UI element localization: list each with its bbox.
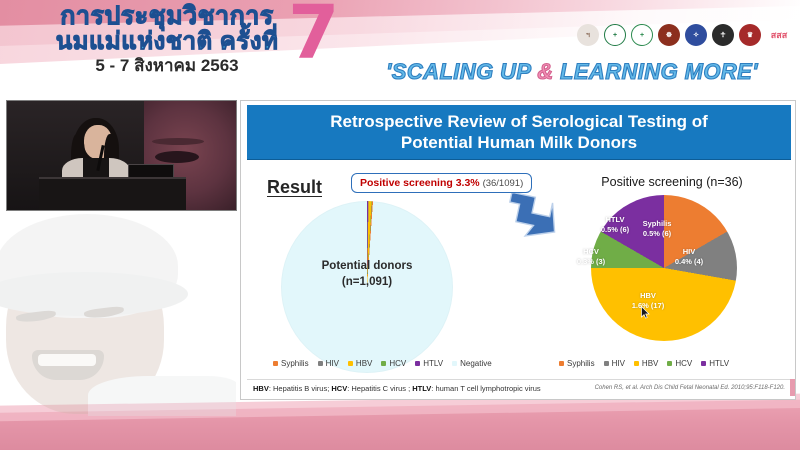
legend-label-htlv: HTLV	[423, 359, 443, 368]
positive-screening-callout: Positive screening 3.3% (36/1091)	[351, 173, 532, 193]
legend2-item-hcv: HCV	[667, 359, 692, 368]
legend-swatch-hcv-icon	[381, 361, 386, 366]
slice-label-htlv-value: 0.5% (6)	[593, 225, 637, 235]
legend-item-hiv: HIV	[318, 359, 339, 368]
slice-label-syphilis: Syphilis 0.5% (6)	[629, 219, 685, 239]
legend2-item-htlv: HTLV	[701, 359, 729, 368]
legend-label-syphilis: Syphilis	[281, 359, 309, 368]
legend-item-negative: Negative	[452, 359, 492, 368]
slice-label-syphilis-value: 0.5% (6)	[629, 229, 685, 239]
slice-label-hbv-name: HBV	[625, 291, 671, 301]
legend-item-syphilis: Syphilis	[273, 359, 309, 368]
logo-health-green-2-icon: +	[631, 24, 653, 46]
fn-hcv-val: : Hepatitis C virus ;	[347, 384, 412, 393]
fn-htlv-val: : human T cell lymphotropic virus	[431, 384, 540, 393]
legend2-item-hiv: HIV	[604, 359, 625, 368]
slice-label-htlv-name: HTLV	[593, 215, 637, 225]
conference-title-line2: นมแม่แห่งชาติ ครั้งที่	[22, 30, 312, 54]
footnote-pink-accent	[790, 379, 795, 396]
logo-university-maroon-icon: ☸	[658, 24, 680, 46]
potential-donors-title: Potential donors	[287, 259, 447, 275]
legend-swatch-negative-icon	[452, 361, 457, 366]
legend2-item-hbv: HBV	[634, 359, 658, 368]
logo-sss-icon: สสส	[766, 24, 792, 46]
legend-label-hiv: HIV	[326, 359, 339, 368]
logo-royal-blue-icon: ✧	[685, 24, 707, 46]
conference-title-line1: การประชุมวิชาการ	[22, 4, 312, 30]
slice-label-htlv: HTLV 0.5% (6)	[593, 215, 637, 235]
legend2-item-syphilis: Syphilis	[559, 359, 595, 368]
legend2-label-hbv: HBV	[642, 359, 658, 368]
logo-ministry-black-icon: ☥	[712, 24, 734, 46]
tagline-ampersand: &	[537, 59, 553, 84]
callout-sub-text: (36/1091)	[483, 178, 524, 189]
logo-foundation-icon: ฯ	[577, 24, 599, 46]
slice-label-hcv-name: HCV	[571, 247, 611, 257]
slide-title-line1: Retrospective Review of Serological Test…	[330, 111, 708, 132]
mouse-cursor-icon	[641, 306, 650, 319]
slice-label-syphilis-name: Syphilis	[629, 219, 685, 229]
legend2-swatch-hiv-icon	[604, 361, 609, 366]
legend2-swatch-htlv-icon	[701, 361, 706, 366]
potential-donors-subtitle: (n=1,091)	[287, 275, 447, 291]
tagline-part1: 'SCALING UP	[386, 59, 537, 84]
legend-swatch-htlv-icon	[415, 361, 420, 366]
result-heading: Result	[267, 177, 322, 198]
legend-label-hcv: HCV	[389, 359, 406, 368]
conference-edition-number: 7	[288, 0, 340, 70]
blue-arrow-icon	[505, 193, 559, 243]
sponsor-logo-strip: ฯ + + ☸ ✧ ☥ ♛ สสส	[577, 24, 792, 46]
slice-label-hcv: HCV 0.3% (3)	[571, 247, 611, 267]
legend-swatch-hbv-icon	[348, 361, 353, 366]
citation-text: Cohen RS, et al. Arch Dis Child Fetal Ne…	[595, 385, 785, 391]
conference-title-thai: การประชุมวิชาการ นมแม่แห่งชาติ ครั้งที่ …	[22, 4, 312, 74]
potential-donors-pie-label: Potential donors (n=1,091)	[287, 259, 447, 290]
child-watermark-image	[0, 208, 236, 416]
conference-tagline: 'SCALING UP & LEARNING MORE'	[352, 59, 792, 85]
abbreviation-key: HBV: Hepatitis B virus; HCV: Hepatitis C…	[253, 384, 541, 393]
speaker-video-inset[interactable]	[6, 100, 237, 211]
legend-label-negative: Negative	[460, 359, 492, 368]
legend2-label-hiv: HIV	[612, 359, 625, 368]
slide-title-line2: Potential Human Milk Donors	[401, 132, 637, 153]
logo-health-green-1-icon: +	[604, 24, 626, 46]
legend2-swatch-hcv-icon	[667, 361, 672, 366]
slice-label-hiv-name: HIV	[665, 247, 713, 257]
legend-label-hbv: HBV	[356, 359, 372, 368]
slide-panel: Retrospective Review of Serological Test…	[240, 100, 796, 400]
legend-swatch-hiv-icon	[318, 361, 323, 366]
slice-label-hcv-value: 0.3% (3)	[571, 257, 611, 267]
tagline-part2: LEARNING MORE'	[553, 59, 757, 84]
fn-hcv-key: HCV	[331, 384, 347, 393]
slide-footnote: HBV: Hepatitis B virus; HCV: Hepatitis C…	[247, 379, 791, 396]
fn-htlv-key: HTLV	[412, 384, 431, 393]
slice-label-hiv-value: 0.4% (4)	[665, 257, 713, 267]
slide-title: Retrospective Review of Serological Test…	[247, 105, 791, 159]
legend-potential-donors: Syphilis HIV HBV HCV HTLV Negative	[273, 359, 492, 368]
logo-crest-red-icon: ♛	[739, 24, 761, 46]
fn-hbv-key: HBV	[253, 384, 269, 393]
positive-screening-chart-title: Positive screening (n=36)	[557, 175, 787, 189]
legend-item-hcv: HCV	[381, 359, 406, 368]
legend-item-htlv: HTLV	[415, 359, 443, 368]
legend-positive-screening: Syphilis HIV HBV HCV HTLV	[559, 359, 729, 368]
legend2-label-htlv: HTLV	[709, 359, 729, 368]
presentation-screen: การประชุมวิชาการ นมแม่แห่งชาติ ครั้งที่ …	[0, 0, 800, 450]
legend-swatch-syphilis-icon	[273, 361, 278, 366]
legend-item-hbv: HBV	[348, 359, 372, 368]
legend2-swatch-syphilis-icon	[559, 361, 564, 366]
slice-label-hiv: HIV 0.4% (4)	[665, 247, 713, 267]
legend2-label-hcv: HCV	[675, 359, 692, 368]
conference-date: 5 - 7 สิงหาคม 2563	[22, 57, 312, 74]
legend2-label-syphilis: Syphilis	[567, 359, 595, 368]
legend2-swatch-hbv-icon	[634, 361, 639, 366]
fn-hbv-val: : Hepatitis B virus;	[269, 384, 332, 393]
callout-main-text: Positive screening 3.3%	[360, 177, 480, 189]
